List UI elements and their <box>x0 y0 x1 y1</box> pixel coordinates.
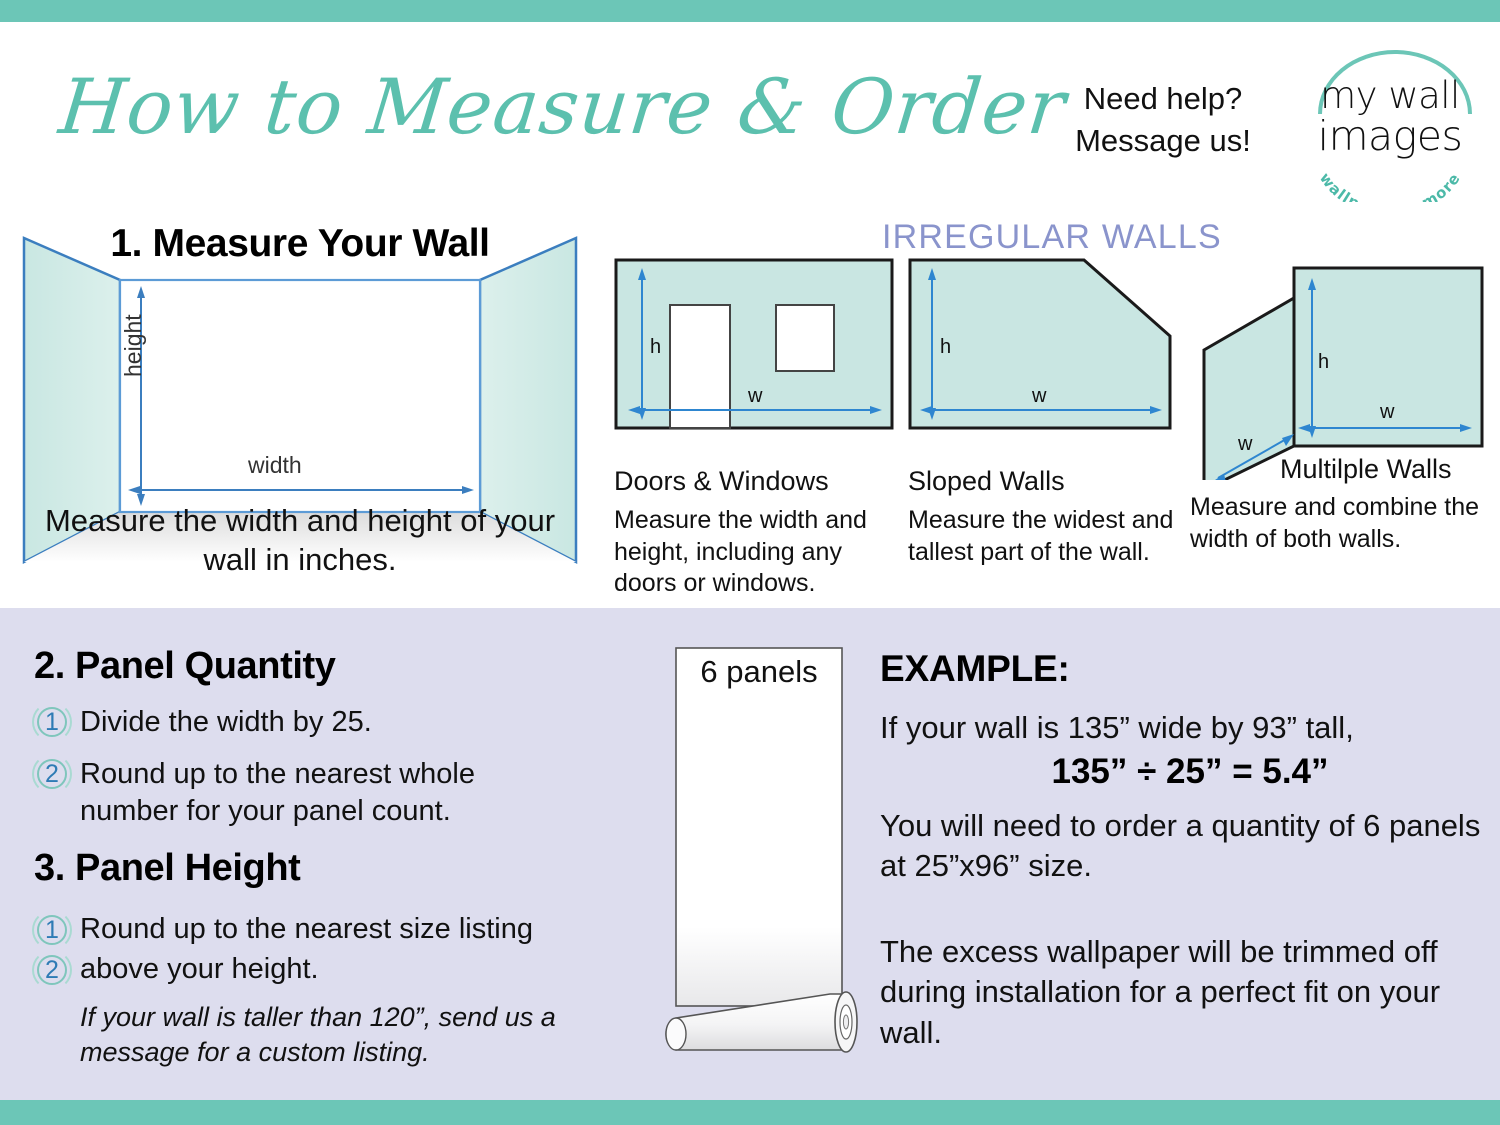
figure-multiple-walls: h w w Multilple Walls Measure and combin… <box>1190 250 1490 485</box>
logo-tagline: wallpaper + more <box>1300 160 1480 206</box>
panel-height-note: If your wall is taller than 120”, send u… <box>80 1000 570 1070</box>
multiple-walls-diagram: h w w <box>1190 250 1490 480</box>
figure-doors-windows-title: Doors & Windows <box>614 466 894 497</box>
bottom-accent-bar <box>0 1100 1500 1125</box>
figure-sloped-walls: h w Sloped Walls Measure the widest and … <box>908 258 1176 568</box>
logo-line-1: my wall <box>1300 74 1480 117</box>
need-help-line-1: Need help? <box>1038 78 1288 120</box>
example-equation: 135” ÷ 25” = 5.4” <box>880 752 1500 792</box>
example-line-1: If your wall is 135” wide by 93” tall, <box>880 708 1500 748</box>
width-label: width <box>248 452 302 479</box>
roll-graphic <box>660 638 875 1083</box>
step-badge-quantity-2: 2 <box>32 754 72 794</box>
step-badge-quantity-2-number: 2 <box>32 754 72 794</box>
step-badge-height-2: 2 <box>32 950 72 990</box>
figure-sloped-walls-body: Measure the widest and tallest part of t… <box>908 505 1176 568</box>
brand-logo: my wall images wallpaper + more <box>1300 48 1480 203</box>
svg-text:wallpaper + more: wallpaper + more <box>1316 169 1464 202</box>
step-badge-height-2-number: 2 <box>32 950 72 990</box>
wallpaper-roll-illustration: 6 panels <box>660 638 875 1083</box>
step-badge-height-1-number: 1 <box>32 910 72 950</box>
figure-doors-windows-body: Measure the width and height, including … <box>614 505 892 600</box>
top-accent-bar <box>0 0 1500 22</box>
infographic-page: How to Measure & Order Need help? Messag… <box>0 0 1500 1125</box>
panel-height-step-1-text: Round up to the nearest size listing <box>80 911 580 948</box>
step-badge-quantity-1: 1 <box>32 702 72 742</box>
panel-height-heading: 3. Panel Height <box>34 847 300 890</box>
need-help-text: Need help? Message us! <box>1038 78 1288 162</box>
panel-quantity-step-1-text: Divide the width by 25. <box>80 704 550 741</box>
multiple-walls-h-label: h <box>1318 351 1329 373</box>
panel-height-step-2-text: above your height. <box>80 951 580 988</box>
sloped-walls-h-label: h <box>940 336 951 358</box>
irregular-walls-header: IRREGULAR WALLS <box>882 218 1222 257</box>
panel-quantity-step-2-text: Round up to the nearest whole number for… <box>80 756 550 830</box>
multiple-walls-w-label: w <box>1379 401 1395 423</box>
figure-multiple-walls-title: Multilple Walls <box>1280 454 1490 485</box>
multiple-walls-w2-label: w <box>1237 433 1253 455</box>
height-label: height <box>120 314 147 377</box>
example-heading: EXAMPLE: <box>880 648 1070 690</box>
sloped-walls-diagram: h w <box>908 258 1176 453</box>
doors-windows-w-label: w <box>747 385 763 407</box>
example-line-3: The excess wallpaper will be trimmed off… <box>880 932 1480 1053</box>
figure-multiple-walls-body: Measure and combine the width of both wa… <box>1190 492 1486 555</box>
page-title: How to Measure & Order <box>54 52 1026 162</box>
measure-wall-caption: Measure the width and height of your wal… <box>28 502 572 580</box>
panel-quantity-heading: 2. Panel Quantity <box>34 645 336 688</box>
logo-tagline-arc-icon: wallpaper + more <box>1300 160 1480 202</box>
roll-panel-count-label: 6 panels <box>676 654 842 690</box>
measure-wall-figure: 1. Measure Your Wall <box>8 222 592 582</box>
example-line-2: You will need to order a quantity of 6 p… <box>880 806 1490 887</box>
doors-windows-h-label: h <box>650 336 661 358</box>
sloped-walls-w-label: w <box>1031 385 1047 407</box>
logo-line-2: images <box>1300 112 1480 160</box>
need-help-line-2: Message us! <box>1038 120 1288 162</box>
step-badge-height-1: 1 <box>32 910 72 950</box>
doors-windows-diagram: h w <box>614 258 894 453</box>
step-badge-quantity-1-number: 1 <box>32 702 72 742</box>
figure-doors-windows: h w Doors & Windows Measure the width an… <box>614 258 894 600</box>
figure-sloped-walls-title: Sloped Walls <box>908 466 1176 497</box>
